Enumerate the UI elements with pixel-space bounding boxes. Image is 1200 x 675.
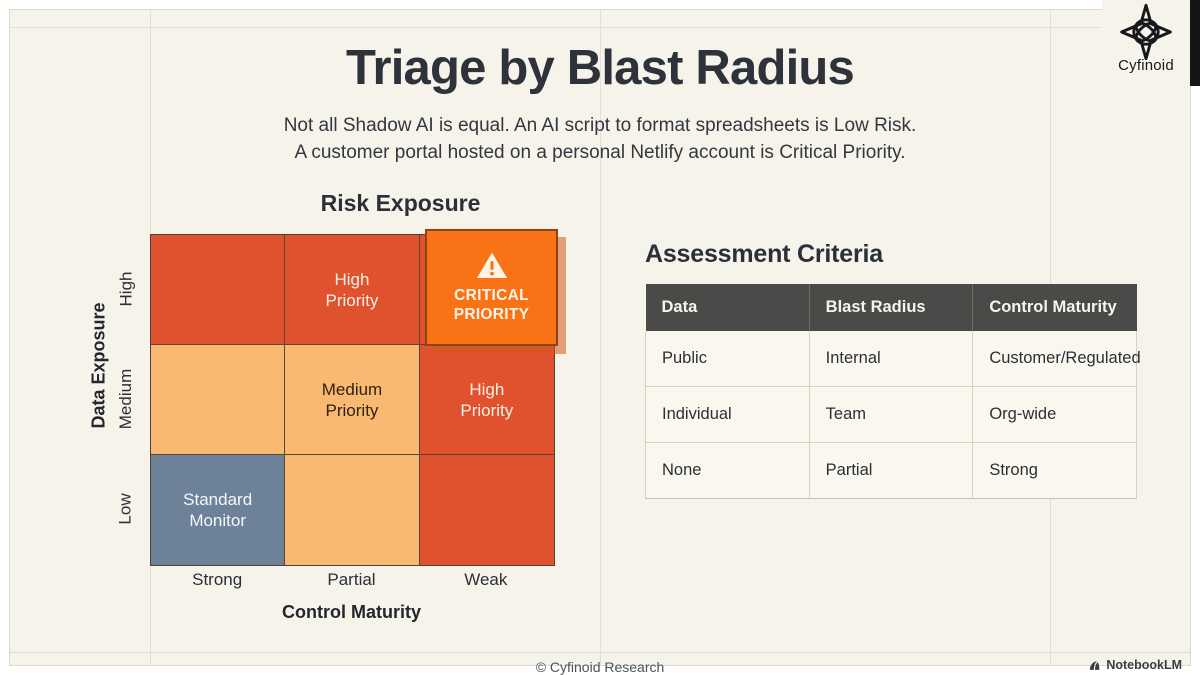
corner-accent <box>1190 0 1200 86</box>
risk-matrix: Risk Exposure Data Exposure High Medium … <box>50 190 610 640</box>
notebooklm-label: NotebookLM <box>1106 658 1182 672</box>
table-cell: Public <box>646 331 810 387</box>
table-cell: None <box>646 443 810 499</box>
assessment-criteria-heading: Assessment Criteria <box>645 240 1145 269</box>
page-margin-right <box>1191 0 1200 675</box>
brand-logo: Cyfinoid <box>1102 0 1190 90</box>
table-header-row: Data Blast Radius Control Maturity <box>646 284 1137 331</box>
x-tick-strong: Strong <box>150 570 284 590</box>
x-axis-title: Control Maturity <box>150 602 553 623</box>
y-tick-medium: Medium <box>108 344 144 454</box>
table-cell: Partial <box>809 443 973 499</box>
x-axis-ticks: Strong Partial Weak <box>150 570 553 590</box>
y-tick-label: Low <box>116 493 136 524</box>
subtitle-line-2: A customer portal hosted on a personal N… <box>0 139 1200 166</box>
page-margin-top <box>0 0 1200 9</box>
cell-label: Standard Monitor <box>183 489 252 531</box>
table-cell: Team <box>809 387 973 443</box>
table-row: Individual Team Org-wide <box>646 387 1137 443</box>
matrix-cell-low-weak[interactable] <box>420 455 554 565</box>
assessment-criteria-panel: Assessment Criteria Data Blast Radius Co… <box>645 240 1145 499</box>
critical-priority-callout[interactable]: CRITICAL PRIORITY <box>425 229 558 346</box>
cell-label-line-2: Priority <box>326 401 379 420</box>
layout-guide-horizontal-top <box>0 27 1200 28</box>
matrix-cell-medium-strong[interactable] <box>151 345 285 455</box>
column-header-control-maturity: Control Maturity <box>973 284 1137 331</box>
page-margin-left <box>0 0 9 675</box>
table-cell: Strong <box>973 443 1137 499</box>
brand-wordmark: Cyfinoid <box>1118 57 1174 74</box>
warning-triangle-icon <box>476 251 508 280</box>
table-cell: Individual <box>646 387 810 443</box>
cell-label-line-1: Medium <box>322 380 382 399</box>
subtitle-line-1: Not all Shadow AI is equal. An AI script… <box>0 112 1200 139</box>
table-cell: Org-wide <box>973 387 1137 443</box>
y-tick-label: High <box>116 272 136 307</box>
copyright-text: © Cyfinoid Research <box>0 659 1200 675</box>
page-subtitle: Not all Shadow AI is equal. An AI script… <box>0 112 1200 166</box>
matrix-cell-high-strong[interactable] <box>151 235 285 345</box>
page-title: Triage by Blast Radius <box>0 40 1200 96</box>
cell-label-line-1: High <box>335 270 370 289</box>
matrix-title: Risk Exposure <box>198 190 603 217</box>
table-cell: Customer/Regulated <box>973 331 1137 387</box>
critical-line-1: CRITICAL <box>454 287 529 304</box>
slide-canvas: Cyfinoid Triage by Blast Radius Not all … <box>0 0 1200 675</box>
y-tick-high: High <box>108 234 144 344</box>
cell-label: High Priority <box>460 379 513 421</box>
x-tick-weak: Weak <box>419 570 553 590</box>
cell-label-line-2: Monitor <box>189 511 246 530</box>
column-header-blast-radius: Blast Radius <box>809 284 973 331</box>
x-tick-partial: Partial <box>284 570 418 590</box>
cell-label-line-1: High <box>469 380 504 399</box>
column-header-data: Data <box>646 284 810 331</box>
critical-line-2: PRIORITY <box>454 306 530 323</box>
cyfinoid-star-icon <box>1117 3 1175 61</box>
cell-label-line-1: Standard <box>183 490 252 509</box>
table-row: Public Internal Customer/Regulated <box>646 331 1137 387</box>
y-axis-ticks: High Medium Low <box>108 234 144 564</box>
critical-priority-label: CRITICAL PRIORITY <box>454 286 530 324</box>
notebooklm-icon <box>1088 659 1101 672</box>
matrix-cell-low-strong[interactable]: Standard Monitor <box>151 455 285 565</box>
matrix-cell-low-partial[interactable] <box>285 455 419 565</box>
notebooklm-watermark: NotebookLM <box>1088 658 1182 672</box>
matrix-cell-high-partial[interactable]: High Priority <box>285 235 419 345</box>
matrix-cell-medium-weak[interactable]: High Priority <box>420 345 554 455</box>
matrix-cell-medium-partial[interactable]: Medium Priority <box>285 345 419 455</box>
assessment-criteria-table: Data Blast Radius Control Maturity Publi… <box>645 284 1137 499</box>
cell-label: High Priority <box>326 269 379 311</box>
cell-label-line-2: Priority <box>460 401 513 420</box>
y-tick-label: Medium <box>116 369 136 429</box>
y-tick-low: Low <box>108 454 144 564</box>
cell-label: Medium Priority <box>322 379 382 421</box>
table-cell: Internal <box>809 331 973 387</box>
table-row: None Partial Strong <box>646 443 1137 499</box>
cell-label-line-2: Priority <box>326 291 379 310</box>
y-axis-title: Data Exposure <box>89 271 110 461</box>
footer-divider <box>9 652 1191 653</box>
